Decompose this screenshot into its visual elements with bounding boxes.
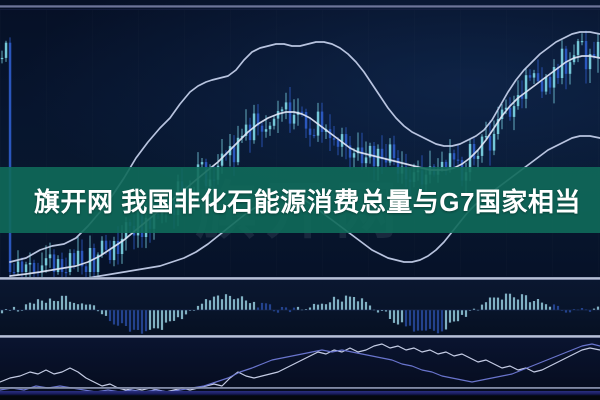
volume-bar <box>205 299 207 310</box>
volume-bar <box>397 310 399 325</box>
volume-bar <box>177 310 179 317</box>
volume-bar <box>233 299 235 310</box>
volume-bar <box>545 304 547 310</box>
volume-bar <box>437 310 439 333</box>
volume-bar <box>345 296 347 310</box>
volume-bar <box>529 302 531 310</box>
volume-bar <box>389 310 391 319</box>
volume-bar <box>509 294 511 310</box>
volume-bar <box>449 310 451 323</box>
volume-bar <box>225 294 227 310</box>
volume-bar <box>45 303 47 310</box>
volume-bar <box>597 307 599 310</box>
volume-bar <box>337 299 339 310</box>
volume-bar <box>521 294 523 310</box>
volume-bar <box>185 310 187 314</box>
volume-bar <box>53 301 55 310</box>
volume-bar <box>109 310 111 321</box>
volume-bar <box>525 295 527 310</box>
volume-bar <box>553 304 555 310</box>
volume-bar <box>269 304 271 310</box>
volume-bar <box>321 304 323 310</box>
volume-bar <box>201 304 203 310</box>
volume-bar-series <box>0 280 600 336</box>
chart-screenshot: 旗开网 旗开网 我国非化石能源消费总量与G7国家相当 <box>0 0 600 400</box>
volume-bar <box>541 303 543 310</box>
bollinger-middle-ma-line <box>10 56 600 276</box>
volume-bar <box>229 296 231 310</box>
volume-bar <box>181 310 183 319</box>
volume-bar <box>161 310 163 330</box>
volume-bar <box>485 302 487 310</box>
volume-bar <box>549 307 551 310</box>
volume-bar <box>393 310 395 323</box>
volume-bar <box>61 296 63 310</box>
volume-bar <box>245 301 247 311</box>
volume-bar <box>465 310 467 317</box>
volume-bar <box>101 310 103 314</box>
volume-bar <box>457 310 459 321</box>
volume-bar <box>37 299 39 310</box>
volume-bar <box>89 304 91 310</box>
volume-bar <box>557 306 559 310</box>
volume-bar <box>453 310 455 322</box>
volume-bar <box>333 297 335 310</box>
volume-bar <box>253 302 255 310</box>
volume-bar <box>153 310 155 328</box>
volume-bar <box>129 310 131 332</box>
volume-bar <box>317 305 319 310</box>
volume-bar <box>261 303 263 310</box>
volume-bar <box>81 303 83 310</box>
bollinger-band-lines <box>0 0 600 278</box>
volume-bar <box>361 298 363 310</box>
volume-bar <box>461 310 463 315</box>
bottom-purple-rule <box>0 391 600 395</box>
volume-bar <box>249 303 251 310</box>
volume-bar <box>149 310 151 330</box>
headline-banner: 旗开网 我国非化石能源消费总量与G7国家相当 <box>0 167 600 233</box>
bottom-edge-rule <box>0 396 600 400</box>
volume-bar <box>329 302 331 310</box>
volume-bar <box>121 310 123 323</box>
volume-bar <box>65 296 67 310</box>
top-divider-line <box>0 5 600 8</box>
volume-bar <box>441 310 443 331</box>
volume-bar <box>113 310 115 325</box>
volume-bar <box>93 305 95 310</box>
volume-bar <box>237 298 239 310</box>
volume-bar <box>141 310 143 334</box>
volume-bar <box>497 298 499 310</box>
top-divider-shadow <box>0 9 600 10</box>
volume-bar <box>493 298 495 311</box>
volume-bar <box>13 307 15 310</box>
oscillator-slow-line <box>0 344 600 392</box>
volume-bar <box>501 300 503 310</box>
volume-bar <box>505 294 507 310</box>
volume-bar <box>265 303 267 310</box>
volume-bar <box>69 302 71 310</box>
volume-bar <box>341 302 343 310</box>
volume-bar <box>173 310 175 321</box>
volume-bar <box>405 310 407 326</box>
volume-bar <box>421 310 423 331</box>
volume-bar <box>445 310 447 330</box>
volume-bar <box>429 310 431 329</box>
volume-bar <box>221 299 223 310</box>
volume-bar <box>125 310 127 326</box>
volume-bar <box>137 310 139 330</box>
volume-bar <box>325 304 327 310</box>
volume-bar <box>217 296 219 311</box>
volume-bar <box>133 310 135 330</box>
volume-bar <box>1 310 3 313</box>
volume-bar <box>197 306 199 310</box>
volume-bar <box>313 304 315 310</box>
volume-bar <box>145 310 147 331</box>
volume-bar <box>105 310 107 316</box>
volume-bar <box>117 310 119 326</box>
volume-bar <box>73 303 75 310</box>
oscillator-bottom-rule <box>0 387 600 389</box>
volume-panel-top-rule <box>0 277 600 280</box>
volume-bar <box>85 305 87 310</box>
volume-bar <box>165 310 167 323</box>
volume-panel-bottom-rule <box>0 335 600 338</box>
volume-bar <box>241 296 243 310</box>
volume-bar <box>25 304 27 310</box>
volume-bar <box>353 297 355 310</box>
volume-bar <box>365 302 367 310</box>
volume-bar <box>537 299 539 310</box>
volume-bar <box>213 297 215 310</box>
oscillator-fast-line <box>0 344 600 392</box>
volume-bar <box>29 303 31 310</box>
volume-bar <box>33 304 35 310</box>
volume-bar <box>169 310 171 321</box>
volume-bar <box>433 310 435 331</box>
volume-bar <box>409 310 411 326</box>
volume-bar <box>417 310 419 331</box>
volume-bar <box>77 304 79 310</box>
volume-bar <box>209 300 211 310</box>
volume-bar <box>481 305 483 310</box>
volume-bar <box>157 310 159 328</box>
volume-bar <box>49 299 51 311</box>
volume-bar <box>413 310 415 332</box>
volume-bar <box>517 300 519 311</box>
volume-bar <box>533 301 535 310</box>
volume-bar <box>41 301 43 310</box>
volume-bar <box>57 301 59 310</box>
volume-bar <box>369 306 371 311</box>
volume-bar <box>425 310 427 331</box>
volume-bar <box>281 307 283 310</box>
headline-title: 旗开网 我国非化石能源消费总量与G7国家相当 <box>34 182 581 219</box>
volume-bar <box>277 310 279 313</box>
volume-bar <box>297 307 299 310</box>
volume-bar <box>349 297 351 310</box>
volume-bar <box>489 298 491 311</box>
volume-bar <box>401 310 403 322</box>
volume-bar <box>357 301 359 310</box>
volume-bar <box>513 297 515 310</box>
